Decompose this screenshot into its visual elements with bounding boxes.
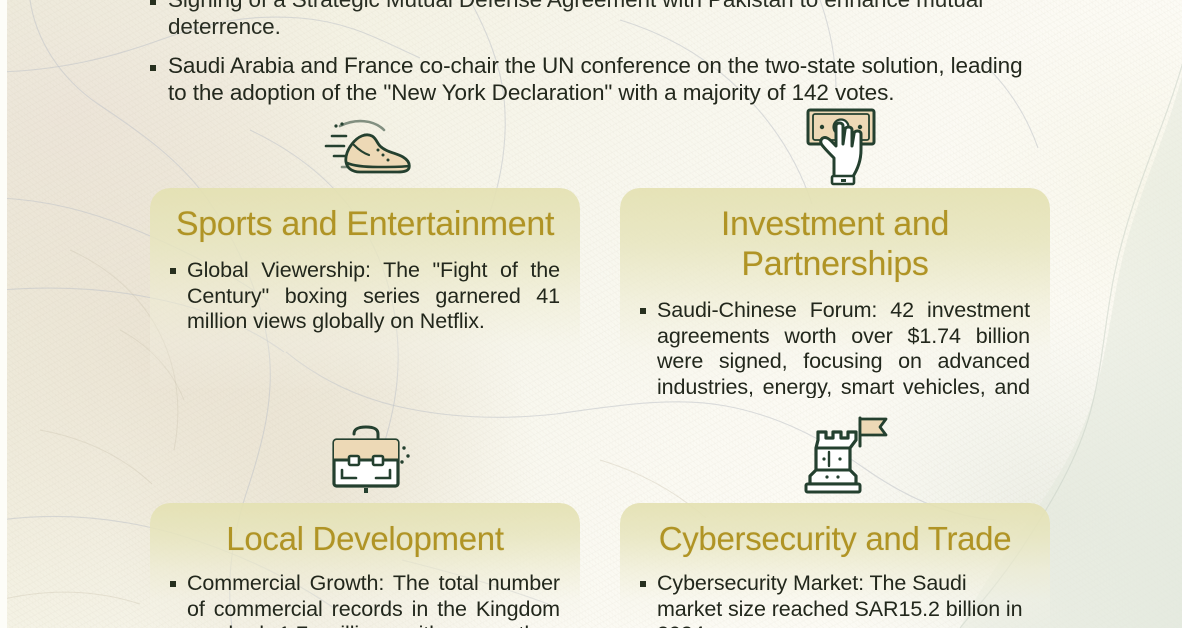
card-title: Local Development [170,519,560,559]
card-bullet-text: Cybersecurity Market: The Saudi market s… [657,571,1030,628]
infographic-page: Signing of a Strategic Mutual Defense Ag… [0,0,1200,628]
card-bullet-text: Saudi-Chinese Forum: 42 investment agree… [657,298,1030,398]
square-bullet-icon [150,65,156,71]
running-shoe-icon [316,112,416,182]
card-bullet-text: Commercial Growth: The total number of c… [187,571,560,628]
square-bullet-icon [170,268,176,274]
intro-bullet-text: Signing of a Strategic Mutual Defense Ag… [168,0,1040,40]
card-bullet-item: Global Viewership: The "Fight of the Cen… [170,258,560,335]
chess-rook-flag-icon [800,412,892,496]
card-bullet-item: Saudi-Chinese Forum: 42 investment agree… [640,298,1030,398]
card-body: Commercial Growth: The total number of c… [170,571,560,628]
intro-bullet-list: Signing of a Strategic Mutual Defense Ag… [150,0,1040,118]
card-sports-and-entertainment: Sports and Entertainment Global Viewersh… [150,188,580,388]
intro-bullet-un-conference: Saudi Arabia and France co-chair the UN … [150,52,1040,106]
card-body: Cybersecurity Market: The Saudi market s… [640,571,1030,628]
card-bullet-item: Commercial Growth: The total number of c… [170,571,560,628]
left-margin-strip [0,0,7,628]
card-title: Investment and Partnerships [640,204,1030,284]
hand-banknote-icon [796,104,886,186]
square-bullet-icon [150,0,156,5]
square-bullet-icon [640,308,646,314]
intro-bullet-defense-agreement: Signing of a Strategic Mutual Defense Ag… [150,0,1040,40]
card-bullet-text: Global Viewership: The "Fight of the Cen… [187,258,560,335]
card-bullet-item: Cybersecurity Market: The Saudi market s… [640,571,1030,628]
card-title: Cybersecurity and Trade [640,519,1030,559]
briefcase-icon [320,418,412,500]
square-bullet-icon [640,581,646,587]
intro-bullet-text: Saudi Arabia and France co-chair the UN … [168,52,1040,106]
card-title: Sports and Entertainment [170,204,560,244]
square-bullet-icon [170,581,176,587]
card-investment-and-partnerships: Investment and Partnerships Saudi-Chines… [620,188,1050,398]
card-local-development: Local Development Commercial Growth: The… [150,503,580,628]
right-margin-strip [1182,0,1200,628]
card-cybersecurity-and-trade: Cybersecurity and Trade Cybersecurity Ma… [620,503,1050,628]
card-body: Saudi-Chinese Forum: 42 investment agree… [640,298,1030,398]
card-body: Global Viewership: The "Fight of the Cen… [170,258,560,335]
